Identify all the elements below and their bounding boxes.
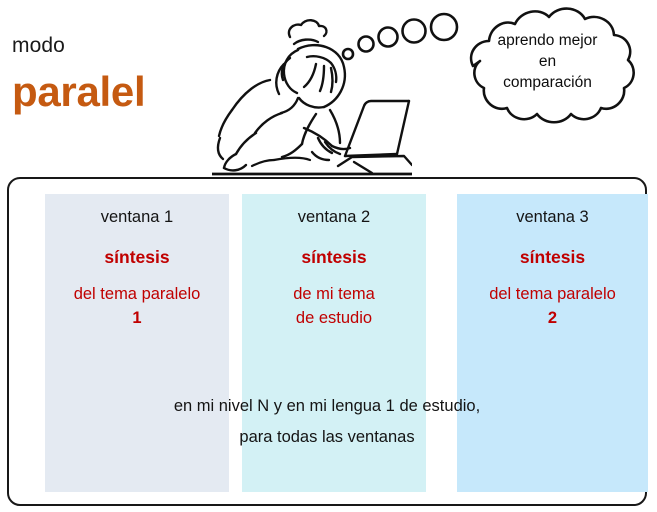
window-column-2[interactable]: ventana 2 síntesis de mi tema de estudio [242, 194, 426, 492]
windows-columns: ventana 1 síntesis del tema paralelo 1 v… [9, 194, 645, 492]
window-column-2-label: ventana 2 [242, 207, 426, 227]
window-column-2-description-line-1: de mi tema [242, 282, 426, 306]
thought-bubble-line-1: aprendo mejor [460, 30, 635, 51]
thought-bubble-line-2: en [460, 51, 635, 72]
mode-name-title: paralel [12, 68, 145, 116]
window-column-1-label: ventana 1 [45, 207, 229, 227]
window-column-3-description: del tema paralelo 2 [447, 282, 657, 330]
window-column-3-body: ventana 3 síntesis del tema paralelo 2 [457, 207, 648, 330]
window-column-1-description-line-1: del tema paralelo [35, 282, 239, 306]
window-column-2-body: ventana 2 síntesis de mi tema de estudio [242, 207, 426, 330]
window-column-3-label: ventana 3 [457, 207, 648, 227]
window-column-1-description: del tema paralelo 1 [35, 282, 239, 330]
window-column-1-synthesis: síntesis [45, 247, 229, 268]
window-column-3-synthesis: síntesis [457, 247, 648, 268]
window-column-2-description: de mi tema de estudio [242, 282, 426, 330]
header: modo paralel [0, 0, 657, 178]
window-column-3[interactable]: ventana 3 síntesis del tema paralelo 2 [457, 194, 648, 492]
window-column-1-body: ventana 1 síntesis del tema paralelo 1 [45, 207, 229, 330]
window-column-1-description-line-2: 1 [35, 306, 239, 330]
window-column-2-description-line-2: de estudio [242, 306, 426, 330]
mode-label: modo [12, 34, 65, 58]
window-column-1[interactable]: ventana 1 síntesis del tema paralelo 1 [45, 194, 229, 492]
thought-bubble-line-3: comparación [460, 72, 635, 93]
window-column-3-description-line-1: del tema paralelo [447, 282, 657, 306]
window-column-3-description-line-2: 2 [447, 306, 657, 330]
thought-bubble-text: aprendo mejor en comparación [460, 30, 635, 93]
window-column-2-synthesis: síntesis [242, 247, 426, 268]
